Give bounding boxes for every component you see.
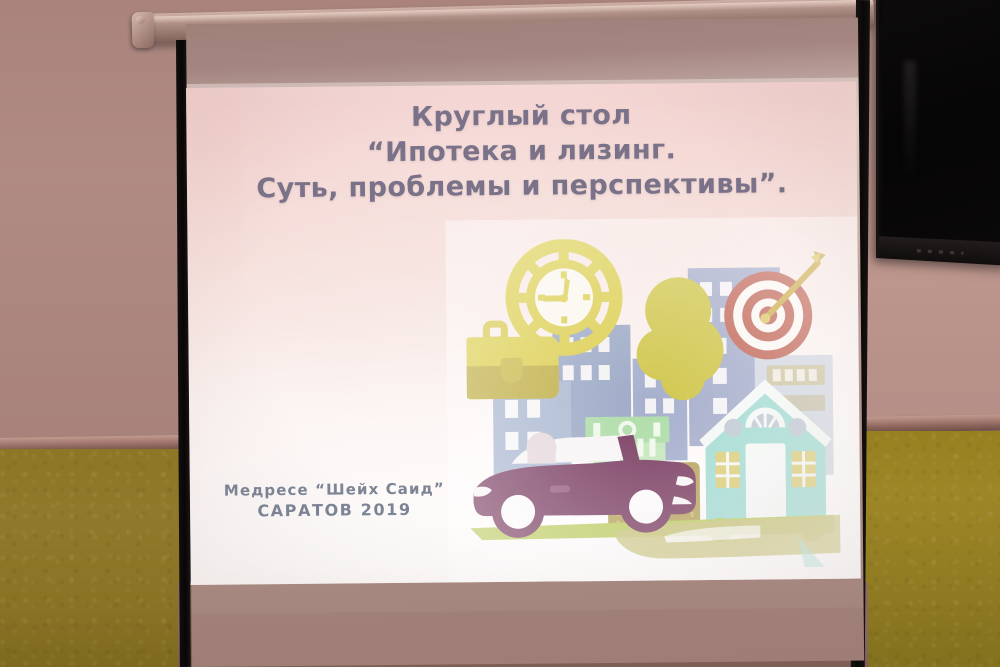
slide-footer-line-1: Медресе “Шейх Саид” <box>224 479 445 501</box>
clock-icon <box>512 245 617 350</box>
projector-screen-unit: Круглый стол “Ипотека и лизинг. Суть, пр… <box>0 0 1000 667</box>
slide-title: Круглый стол “Ипотека и лизинг. Суть, пр… <box>186 96 857 208</box>
slide-title-line-3: Суть, проблемы и перспективы”. <box>187 166 857 208</box>
target-with-arrow-icon <box>724 251 827 360</box>
projected-slide: Круглый стол “Ипотека и лизинг. Суть, пр… <box>186 82 861 585</box>
briefcase-icon <box>465 323 559 399</box>
slide-footer: Медресе “Шейх Саид” САРАТОВ 2019 <box>224 479 445 523</box>
slide-footer-line-2: САРАТОВ 2019 <box>224 499 445 523</box>
slide-illustration <box>465 237 840 571</box>
